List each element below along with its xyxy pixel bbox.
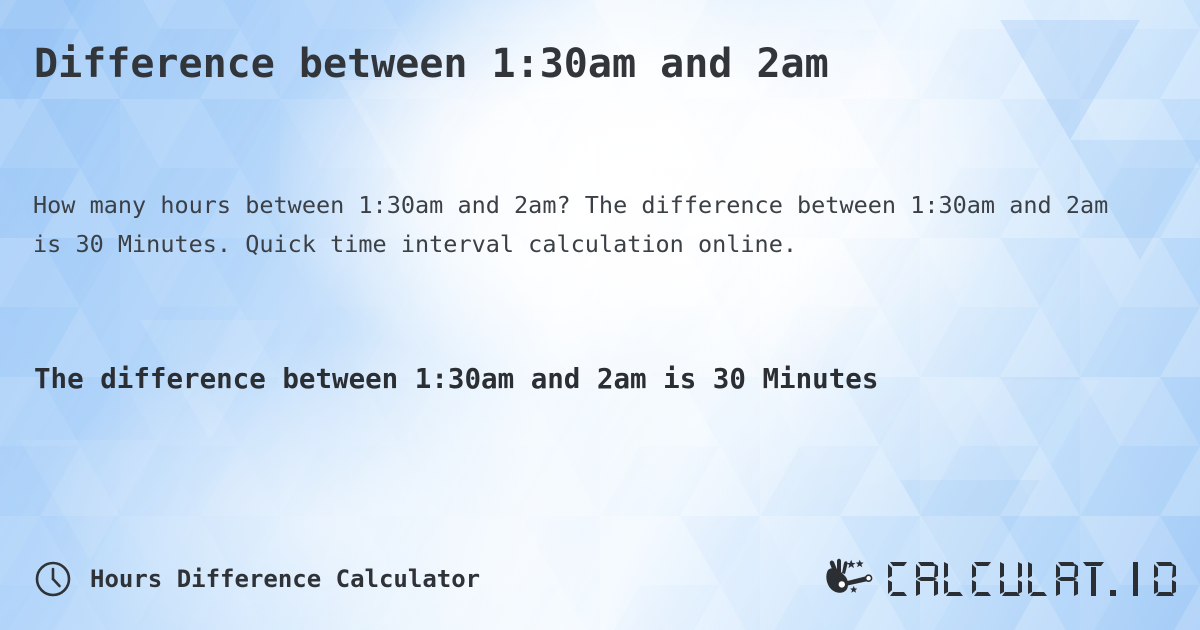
lcd-char-c: [885, 560, 910, 598]
brand-wordmark: [885, 560, 1176, 598]
lcd-char-l: [941, 560, 966, 598]
page-title: Difference between 1:30am and 2am: [34, 41, 829, 87]
lcd-char-c2: [969, 560, 994, 598]
brand-logo[interactable]: [824, 558, 1176, 600]
lcd-char-i: [1123, 560, 1148, 598]
footer-tool: Hours Difference Calculator: [34, 560, 480, 598]
magic-wand-hand-icon: [824, 558, 878, 600]
clock-icon: [34, 560, 72, 598]
lcd-char-t: [1081, 560, 1106, 598]
answer-heading: The difference between 1:30am and 2am is…: [34, 355, 1124, 403]
lcd-char-dot: [1109, 560, 1120, 598]
page-description: How many hours between 1:30am and 2am? T…: [33, 186, 1143, 264]
lcd-char-o: [1151, 560, 1176, 598]
card-footer: Hours Difference Calculator: [34, 552, 1176, 606]
lcd-char-a: [913, 560, 938, 598]
lcd-char-u: [997, 560, 1022, 598]
card-content: Difference between 1:30am and 2am How ma…: [0, 0, 1200, 630]
og-image-card: Difference between 1:30am and 2am How ma…: [0, 0, 1200, 630]
lcd-char-l2: [1025, 560, 1050, 598]
footer-tool-name: Hours Difference Calculator: [90, 565, 480, 593]
lcd-char-a2: [1053, 560, 1078, 598]
